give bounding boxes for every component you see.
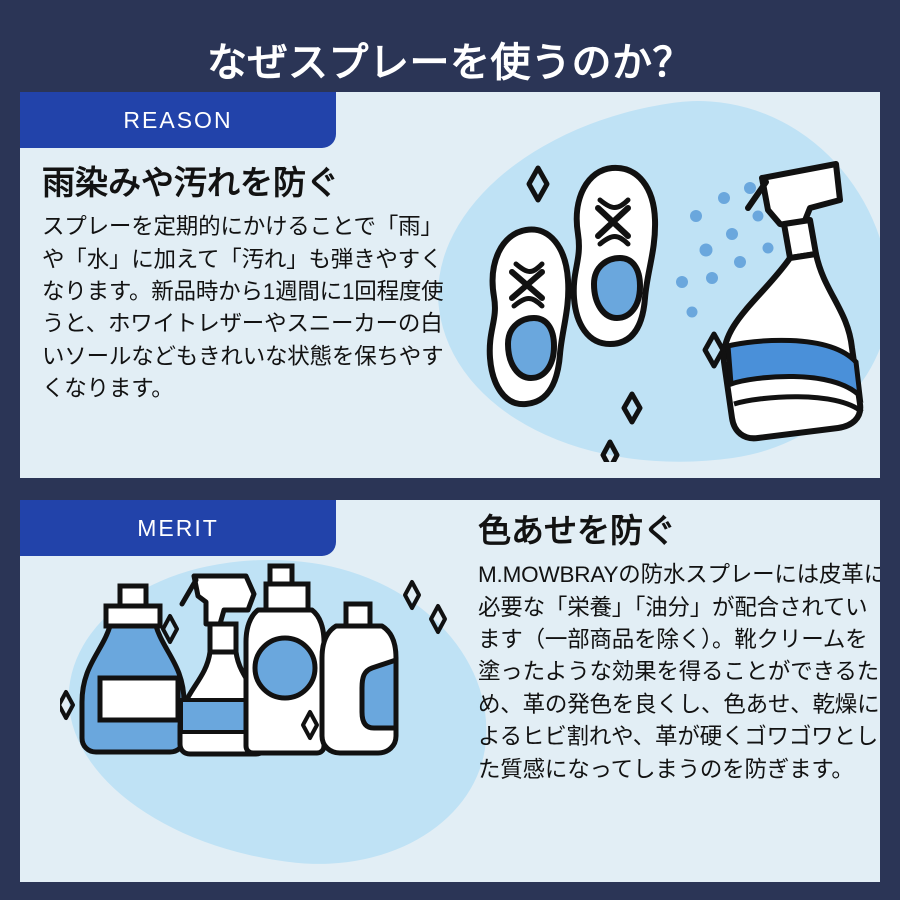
text-block-reason: 雨染みや汚れを防ぐ スプレーを定期的にかけることで「雨」や「水」に加えて「汚れ」… — [42, 162, 452, 406]
page-title: なぜスプレーを使うのか？ — [0, 39, 900, 87]
spray-bottle-icon — [724, 164, 862, 438]
tab-reason: REASON — [20, 92, 336, 148]
illustration-four-care-product-bottles — [60, 540, 480, 840]
illustration-sneaker-insoles-and-spray-bottle — [450, 112, 880, 462]
tab-merit: MERIT — [20, 500, 336, 556]
tab-merit-label: MERIT — [137, 515, 219, 542]
cream-bottle-icon — [322, 604, 396, 753]
card-reason-heading: 雨染みや汚れを防ぐ — [42, 162, 452, 203]
lotion-bottle-icon — [246, 566, 324, 753]
card-merit: MERIT — [20, 500, 880, 882]
card-merit-heading: 色あせを防ぐ — [478, 510, 880, 551]
blue-bottle-icon — [82, 586, 184, 752]
tab-reason-label: REASON — [123, 107, 232, 134]
card-reason: REASON — [20, 92, 880, 478]
card-merit-body: M.MOWBRAYの防水スプレーには皮革に必要な「栄養」「油分」が配合されていま… — [478, 559, 880, 786]
promo-banner: なぜスプレーを使うのか？ REASON — [0, 0, 900, 900]
text-block-merit: 色あせを防ぐ M.MOWBRAYの防水スプレーには皮革に必要な「栄養」「油分」が… — [478, 510, 880, 786]
card-reason-body: スプレーを定期的にかけることで「雨」や「水」に加えて「汚れ」も弾きやすくなります… — [42, 211, 452, 405]
shoe-right-icon — [574, 168, 655, 344]
shoe-left-icon — [490, 230, 569, 405]
